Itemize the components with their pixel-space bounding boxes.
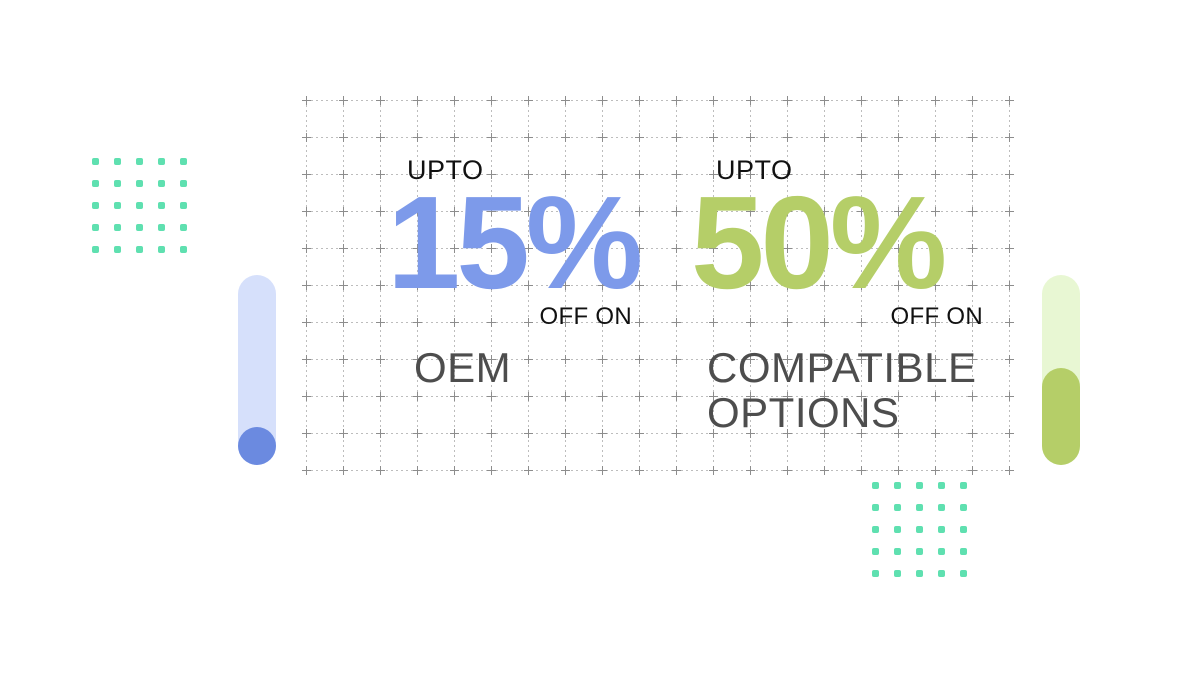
decorative-dot	[916, 504, 923, 511]
decorative-dot	[92, 180, 99, 187]
grid-crosshair	[302, 466, 311, 475]
decorative-dot	[872, 482, 879, 489]
decorative-dot	[158, 158, 165, 165]
decorative-dot	[938, 548, 945, 555]
decorative-dot	[136, 202, 143, 209]
decorative-dot	[872, 526, 879, 533]
decorative-dot	[894, 482, 901, 489]
grid-crosshair	[376, 466, 385, 475]
grid-crosshair	[709, 466, 718, 475]
grid-crosshair	[820, 466, 829, 475]
decorative-dot	[916, 526, 923, 533]
slider-green-fill[interactable]	[1042, 368, 1080, 465]
offers-layer: UPTO 15% OFF ON OEM UPTO 50% OFF ON COMP…	[306, 100, 1014, 465]
grid-crosshair	[413, 466, 422, 475]
decorative-dot	[938, 504, 945, 511]
decorative-dot	[92, 158, 99, 165]
decorative-dot	[960, 504, 967, 511]
decorative-dot	[136, 224, 143, 231]
decorative-dot	[960, 548, 967, 555]
decorative-dot	[916, 548, 923, 555]
decorative-dot	[158, 224, 165, 231]
decorative-dot	[960, 570, 967, 577]
grid-crosshair	[1005, 466, 1014, 475]
decorative-dot	[938, 570, 945, 577]
offer-compatible-subject: COMPATIBLE OPTIONS	[707, 345, 1011, 436]
decorative-dot	[114, 246, 121, 253]
decorative-dot	[136, 246, 143, 253]
offer-oem-offon-label: OFF ON	[342, 305, 632, 329]
offer-oem-subject-line: OEM	[414, 345, 662, 390]
offer-oem-subject: OEM	[414, 345, 662, 390]
grid-crosshair	[894, 466, 903, 475]
offer-compatible-percent: 50%	[691, 188, 1011, 299]
decorative-dot	[180, 180, 187, 187]
decorative-dot	[872, 548, 879, 555]
decorative-dot	[916, 570, 923, 577]
decorative-dot	[916, 482, 923, 489]
grid-crosshair	[672, 466, 681, 475]
grid-crosshair	[450, 466, 459, 475]
decorative-dot	[114, 202, 121, 209]
grid-crosshair	[968, 466, 977, 475]
grid-crosshair	[339, 466, 348, 475]
decorative-dot	[158, 202, 165, 209]
decorative-dot	[114, 158, 121, 165]
slider-blue[interactable]	[238, 275, 276, 465]
decorative-dot	[894, 548, 901, 555]
decorative-dot	[938, 526, 945, 533]
dot-matrix-top-left	[92, 158, 187, 253]
slider-blue-knob[interactable]	[238, 427, 276, 465]
grid-crosshair	[524, 466, 533, 475]
grid-crosshair	[783, 466, 792, 475]
decorative-dot	[938, 482, 945, 489]
offer-compatible-options: UPTO 50% OFF ON COMPATIBLE OPTIONS	[691, 100, 1011, 436]
slider-green[interactable]	[1042, 275, 1080, 465]
grid-crosshair	[598, 466, 607, 475]
decorative-dot	[92, 202, 99, 209]
decorative-dot	[894, 526, 901, 533]
offer-compatible-offon-label: OFF ON	[691, 305, 983, 329]
decorative-dot	[872, 570, 879, 577]
decorative-dot	[114, 224, 121, 231]
grid-crosshair	[931, 466, 940, 475]
grid-crosshair	[487, 466, 496, 475]
decorative-dot	[872, 504, 879, 511]
promo-banner: UPTO 15% OFF ON OEM UPTO 50% OFF ON COMP…	[0, 0, 1200, 675]
offer-compatible-subject-line-2: OPTIONS	[707, 390, 1011, 435]
decorative-dot	[180, 246, 187, 253]
offer-compatible-subject-line-1: COMPATIBLE	[707, 345, 1011, 390]
grid-crosshair	[857, 466, 866, 475]
decorative-dot	[114, 180, 121, 187]
decorative-dot	[158, 180, 165, 187]
decorative-dot	[960, 526, 967, 533]
decorative-dot	[92, 224, 99, 231]
decorative-dot	[158, 246, 165, 253]
decorative-dot	[960, 482, 967, 489]
offer-oem-percent: 15%	[387, 188, 662, 299]
decorative-dot	[894, 504, 901, 511]
decorative-dot	[136, 158, 143, 165]
decorative-dot	[180, 158, 187, 165]
offer-oem: UPTO 15% OFF ON OEM	[342, 100, 662, 390]
grid-crosshair	[561, 466, 570, 475]
grid-crosshair	[746, 466, 755, 475]
decorative-dot	[894, 570, 901, 577]
decorative-dot	[136, 180, 143, 187]
decorative-dot	[92, 246, 99, 253]
decorative-dot	[180, 202, 187, 209]
dot-matrix-bottom-right	[872, 482, 967, 577]
decorative-dot	[180, 224, 187, 231]
grid-crosshair	[635, 466, 644, 475]
